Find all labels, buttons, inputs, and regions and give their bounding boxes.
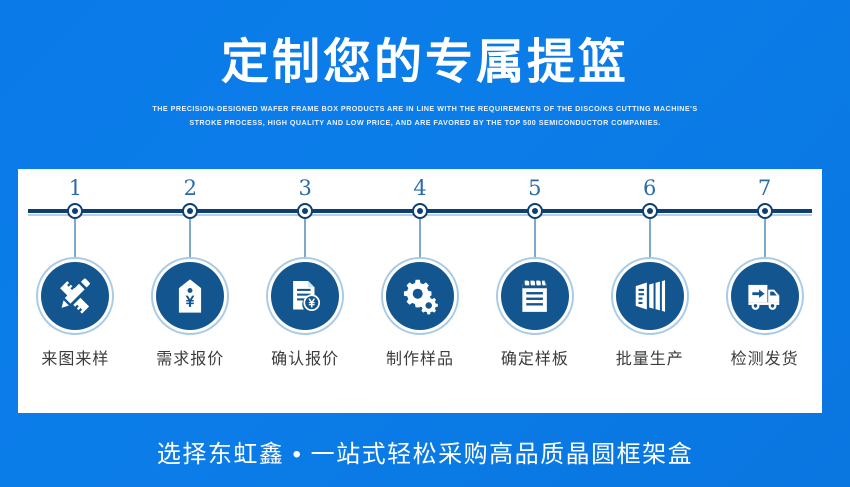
timeline-node: [67, 203, 83, 219]
price-tag-yen-icon: [156, 262, 224, 330]
step-icon-wrap: [36, 257, 114, 335]
pencil-ruler-icon: [41, 262, 109, 330]
banner-header: 定制您的专属提篮 THE PRECISION-DESIGNED WAFER FR…: [0, 0, 850, 160]
step-icon-wrap: [381, 257, 459, 335]
timeline-node: [757, 203, 773, 219]
step-icon-wrap: [266, 257, 344, 335]
process-step-7[interactable]: 7: [707, 169, 822, 413]
timeline-stem: [74, 219, 76, 259]
step-number: 2: [184, 175, 197, 201]
stacked-boxes-icon: [616, 262, 684, 330]
timeline-node: [182, 203, 198, 219]
process-step-3[interactable]: 3: [248, 169, 363, 413]
banner-subtitle: THE PRECISION-DESIGNED WAFER FRAME BOX P…: [137, 102, 713, 132]
banner-footer: 选择东虹鑫 • 一站式轻松采购高品质晶圆框架盒: [0, 424, 850, 487]
process-steps-list: 1 来图来样: [18, 169, 822, 413]
step-number: 1: [69, 175, 82, 201]
timeline-stem: [189, 219, 191, 259]
timeline-stem: [649, 219, 651, 259]
step-label: 确定样板: [501, 349, 569, 371]
invoice-yen-icon: [271, 262, 339, 330]
process-step-6[interactable]: 6: [592, 169, 707, 413]
page-title: 定制您的专属提篮: [0, 0, 850, 92]
step-number: 7: [758, 175, 771, 201]
step-icon-wrap: [726, 257, 804, 335]
timeline-stem: [534, 219, 536, 259]
step-label: 确认报价: [271, 349, 339, 371]
step-label: 需求报价: [156, 349, 224, 371]
process-step-1[interactable]: 1 来图来样: [18, 169, 133, 413]
step-icon-wrap: [496, 257, 574, 335]
step-label: 制作样品: [386, 349, 454, 371]
step-icon-wrap: [151, 257, 229, 335]
process-step-4[interactable]: 4 制作样品: [363, 169, 478, 413]
process-step-5[interactable]: 5: [477, 169, 592, 413]
step-number: 6: [643, 175, 656, 201]
step-label: 来图来样: [41, 349, 109, 371]
process-steps-card: 1 来图来样: [18, 169, 822, 413]
step-number: 4: [413, 175, 426, 201]
timeline-stem: [304, 219, 306, 259]
promo-banner: 定制您的专属提篮 THE PRECISION-DESIGNED WAFER FR…: [0, 0, 850, 487]
notepad-icon: [501, 262, 569, 330]
timeline-node: [297, 203, 313, 219]
timeline-node: [527, 203, 543, 219]
process-step-2[interactable]: 2 需求报价: [133, 169, 248, 413]
timeline-node: [412, 203, 428, 219]
step-number: 5: [528, 175, 541, 201]
footer-tagline: 选择东虹鑫 • 一站式轻松采购高品质晶圆框架盒: [0, 424, 850, 472]
gears-icon: [386, 262, 454, 330]
step-number: 3: [298, 175, 311, 201]
step-icon-wrap: [611, 257, 689, 335]
step-label: 检测发货: [731, 349, 799, 371]
timeline-stem: [764, 219, 766, 259]
timeline-node: [642, 203, 658, 219]
delivery-truck-icon: [731, 262, 799, 330]
step-label: 批量生产: [616, 349, 684, 371]
timeline-stem: [419, 219, 421, 259]
